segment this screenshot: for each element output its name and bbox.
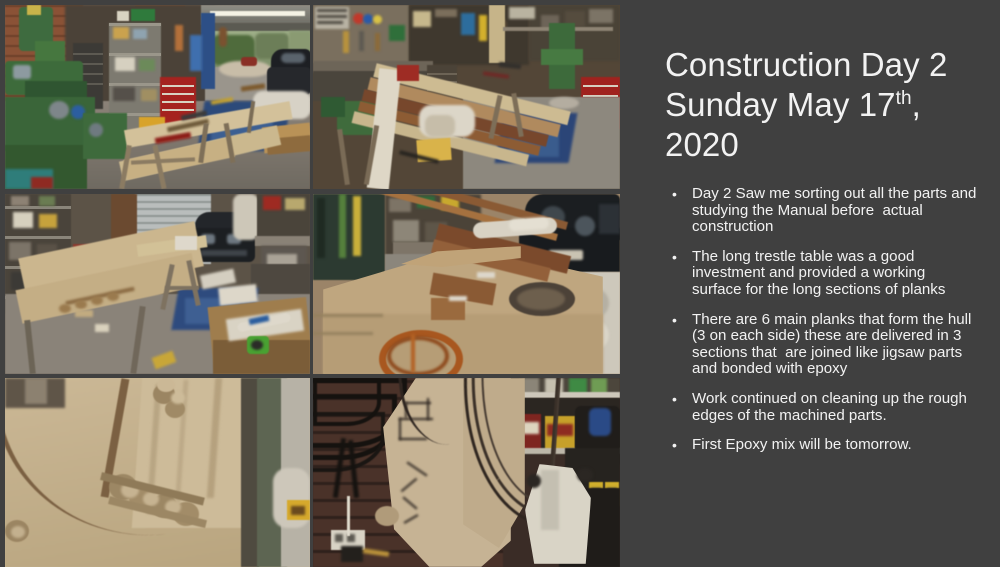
bullet-text-5: First Epoxy mix will be tomorrow. [692, 437, 977, 454]
photo-workbench-planks[interactable] [313, 5, 620, 189]
photo-panels-brick-wall-scene [313, 378, 620, 567]
photo-workshop-mill-scene [5, 5, 310, 189]
photo-panel-cutout[interactable] [313, 194, 620, 374]
bullet-item-5: • First Epoxy mix will be tomorrow. [665, 437, 977, 454]
photo-trestle-plywood[interactable] [5, 194, 310, 374]
bullet-marker-icon: • [672, 437, 677, 454]
title-line-3: 2020 [665, 126, 739, 163]
photo-grid [5, 5, 622, 562]
photo-panel-cutout-scene [313, 194, 620, 374]
bullet-text-2: The long trestle table was a good invest… [692, 249, 977, 299]
bullet-text-3: There are 6 main planks that form the hu… [692, 312, 977, 378]
bullet-text-4: Work continued on cleaning up the rough … [692, 391, 977, 424]
title-line-2-post: , [912, 86, 921, 123]
photo-jigsaw-joints[interactable] [5, 378, 310, 567]
photo-jigsaw-joints-scene [5, 378, 310, 567]
title-ordinal-suffix: th [896, 88, 912, 109]
photo-panels-brick-wall[interactable] [313, 378, 620, 567]
bullet-marker-icon: • [672, 312, 677, 329]
bullet-text-1: Day 2 Saw me sorting out all the parts a… [692, 186, 977, 236]
bullet-marker-icon: • [672, 186, 677, 203]
title-line-1: Construction Day 2 [665, 46, 947, 83]
bullet-marker-icon: • [672, 391, 677, 408]
bullet-list: • Day 2 Saw me sorting out all the parts… [665, 186, 977, 467]
presentation-slide: Construction Day 2 Sunday May 17th, 2020… [0, 0, 1000, 562]
photo-workbench-planks-scene [313, 5, 620, 189]
bullet-item-1: • Day 2 Saw me sorting out all the parts… [665, 186, 977, 236]
photo-workshop-mill[interactable] [5, 5, 310, 189]
bullet-marker-icon: • [672, 249, 677, 266]
slide-title: Construction Day 2 Sunday May 17th, 2020 [665, 45, 985, 165]
bullet-item-4: • Work continued on cleaning up the roug… [665, 391, 977, 424]
bullet-item-2: • The long trestle table was a good inve… [665, 249, 977, 299]
title-line-2-pre: Sunday May 17 [665, 86, 896, 123]
text-panel: Construction Day 2 Sunday May 17th, 2020… [622, 0, 1000, 562]
photo-trestle-plywood-scene [5, 194, 310, 374]
bullet-item-3: • There are 6 main planks that form the … [665, 312, 977, 378]
